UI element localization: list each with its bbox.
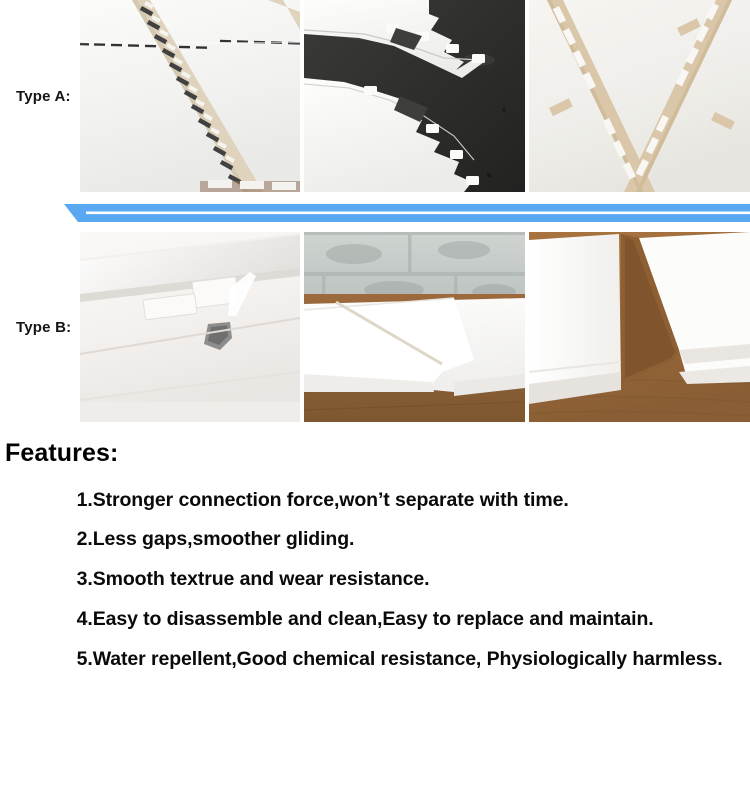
list-item: 2.Less gaps,smoother gliding.: [77, 525, 740, 554]
type-b-photo-1[interactable]: [80, 232, 300, 422]
features-heading: Features:: [5, 440, 750, 468]
type-b-photo-2[interactable]: [304, 232, 525, 422]
tiles-on-dark-subfloor-photo: [304, 0, 525, 192]
type-a-photo-strip: [80, 0, 750, 192]
interlocking-tiles-photo: [80, 0, 300, 192]
stacked-sheets-photo: [304, 232, 525, 422]
panel-edges-on-wood-photo: [529, 232, 750, 422]
list-item: 4.Easy to disassemble and clean,Easy to …: [77, 605, 740, 634]
blue-ribbon-divider: [64, 202, 750, 224]
list-item: 1.Stronger connection force,won’t separa…: [77, 486, 740, 515]
type-b-row: Type B:: [0, 232, 750, 422]
type-b-photo-3[interactable]: [529, 232, 750, 422]
list-item: 3.Smooth textrue and wear resistance.: [77, 565, 740, 594]
x-joint-closeup-photo: [529, 0, 750, 192]
tongue-groove-connector-photo: [80, 232, 300, 422]
type-b-label: Type B:: [0, 320, 80, 335]
ribbon-shape: [64, 202, 750, 224]
type-a-photo-3[interactable]: [529, 0, 750, 192]
type-a-row: Type A:: [0, 0, 750, 192]
features-list: 1.Stronger connection force,won’t separa…: [0, 486, 750, 674]
type-a-photo-1[interactable]: [80, 0, 300, 192]
list-item: 5.Water repellent,Good chemical resistan…: [77, 645, 740, 674]
type-a-photo-2[interactable]: [304, 0, 525, 192]
type-a-label: Type A:: [0, 89, 80, 104]
features-section: Features: 1.Stronger connection force,wo…: [0, 440, 750, 674]
type-b-photo-strip: [80, 232, 750, 422]
